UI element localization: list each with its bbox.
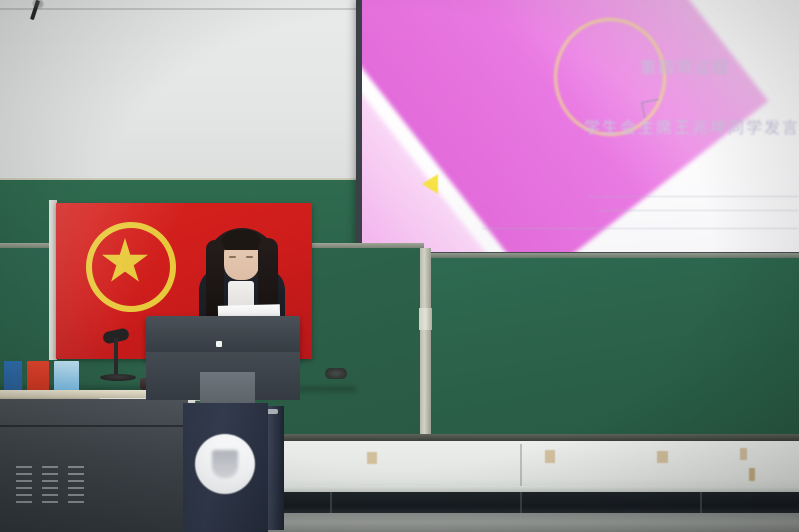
wall-patch bbox=[545, 450, 555, 463]
podium-side-panel bbox=[268, 406, 284, 530]
speaker-eye bbox=[229, 256, 236, 258]
slide-faint-line bbox=[598, 210, 798, 211]
cabinet-vent bbox=[68, 487, 84, 489]
cabinet-vent bbox=[16, 487, 32, 489]
wall-patch bbox=[740, 448, 747, 460]
slide-title-text: 第四项议程 bbox=[640, 54, 730, 78]
cabinet-vent bbox=[68, 473, 84, 475]
cabinet-vent bbox=[16, 466, 32, 468]
cabinet-vent bbox=[42, 466, 58, 468]
upper-wall-left bbox=[0, 0, 370, 190]
prop-box-red bbox=[27, 361, 49, 393]
microphone-base bbox=[100, 374, 136, 381]
wall-patch bbox=[657, 451, 668, 463]
slide-body-text: 学生会主席王兆坤同学发言 bbox=[584, 114, 799, 138]
cabinet-vent bbox=[42, 473, 58, 475]
slide-faint-line bbox=[482, 228, 798, 229]
cabinet-vent bbox=[68, 494, 84, 496]
power-led-icon bbox=[216, 341, 222, 347]
cabinet-vent bbox=[42, 501, 58, 503]
cabinet-vent bbox=[16, 494, 32, 496]
classroom-photo-scene: 第四项议程 学生会主席王兆坤同学发言 bbox=[0, 0, 799, 532]
slide-faint-line bbox=[588, 196, 798, 197]
wall-seam bbox=[520, 444, 522, 488]
chalk-piece bbox=[749, 468, 755, 481]
wall-patch bbox=[367, 452, 377, 464]
cabinet-vent bbox=[16, 480, 32, 482]
slide-triangle-icon bbox=[422, 174, 438, 194]
cabinet-vent bbox=[68, 466, 84, 468]
speaker-eye bbox=[246, 256, 253, 258]
chalkboard-rail-clip bbox=[419, 308, 432, 330]
school-crest-icon bbox=[212, 450, 238, 478]
desk-object bbox=[325, 368, 347, 379]
cabinet-vent bbox=[42, 487, 58, 489]
cabinet-door-seam bbox=[0, 425, 188, 427]
cabinet-vent bbox=[42, 494, 58, 496]
chalkboard-center-rail bbox=[420, 248, 431, 443]
cabinet-vent bbox=[16, 501, 32, 503]
cabinet-vent bbox=[68, 501, 84, 503]
microphone-stem bbox=[114, 338, 118, 376]
projection-screen-surface: 第四项议程 学生会主席王兆坤同学发言 bbox=[362, 0, 799, 252]
speaker-hair-front bbox=[221, 230, 262, 250]
chalkboard-panel-right bbox=[430, 258, 799, 438]
cabinet-vent bbox=[16, 473, 32, 475]
cabinet-vent bbox=[42, 480, 58, 482]
prop-box-blue bbox=[4, 361, 22, 393]
cabinet-vent bbox=[68, 480, 84, 482]
